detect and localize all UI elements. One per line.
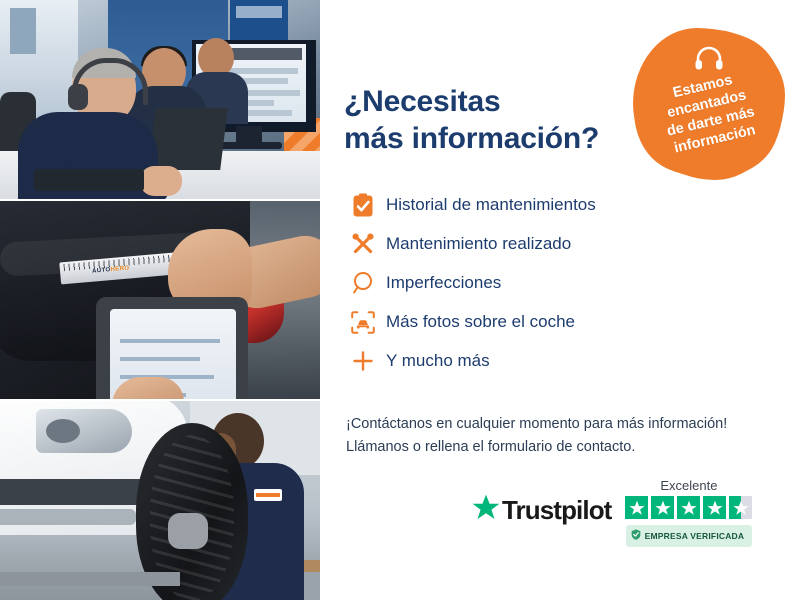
contact-paragraph: ¡Contáctanos en cualquier momento para m…: [346, 413, 776, 461]
star-filled: [625, 496, 648, 519]
star-rating: [625, 496, 752, 519]
feature-item-much-more: Y mucho más: [346, 342, 766, 380]
promo-banner: AUTOHERO: [0, 0, 800, 600]
feature-item-imperfections: Imperfecciones: [346, 264, 766, 302]
trustpilot-rating-block: Excelente: [625, 478, 752, 547]
magnifier-icon: [346, 271, 380, 295]
verified-label: EMPRESA VERIFICADA: [645, 531, 745, 541]
photo-call-center: [0, 0, 320, 199]
photo-car-inspection: AUTOHERO: [0, 199, 320, 400]
star-filled: [677, 496, 700, 519]
feature-item-maintenance-done: Mantenimiento realizado: [346, 225, 766, 263]
star-filled: [703, 496, 726, 519]
shield-check-icon: [631, 527, 641, 545]
tools-cross-icon: [346, 232, 380, 256]
contact-line-1: ¡Contáctanos en cualquier momento para m…: [346, 413, 776, 437]
photo-workshop-wheel-check: [0, 399, 320, 600]
feature-label: Imperfecciones: [386, 273, 501, 293]
feature-item-maintenance-history: Historial de mantenimientos: [346, 186, 766, 224]
trustpilot-wordmark: Trustpilot: [502, 495, 611, 526]
rating-label: Excelente: [660, 478, 717, 493]
clipboard-check-icon: [346, 193, 380, 218]
title-line-1: ¿Necesitas: [344, 85, 500, 118]
plus-icon: [346, 349, 380, 373]
star-filled: [651, 496, 674, 519]
feature-label: Y mucho más: [386, 351, 490, 371]
content-panel: ¿Necesitas más información? Estamos enca…: [320, 0, 800, 600]
feature-list: Historial de mantenimientos Mantenimient…: [346, 186, 766, 381]
trustpilot-logo: Trustpilot: [472, 494, 611, 526]
photo-column: AUTOHERO: [0, 0, 320, 600]
support-badge: Estamos encantados de darte más informac…: [627, 22, 791, 186]
headset-icon: [694, 46, 724, 77]
title-line-2: más información?: [344, 121, 634, 158]
feature-label: Historial de mantenimientos: [386, 195, 596, 215]
page-title: ¿Necesitas más información?: [344, 84, 634, 157]
trustpilot-star-icon: [472, 494, 500, 526]
feature-label: Mantenimiento realizado: [386, 234, 571, 254]
trustpilot-widget[interactable]: Trustpilot Excelente: [472, 478, 752, 547]
feature-item-more-photos: Más fotos sobre el coche: [346, 303, 766, 341]
contact-line-2: Llámanos o rellena el formulario de cont…: [346, 436, 776, 460]
feature-label: Más fotos sobre el coche: [386, 312, 575, 332]
car-frame-icon: [346, 311, 380, 334]
star-half: [729, 496, 752, 519]
verified-company-badge: EMPRESA VERIFICADA: [626, 525, 753, 547]
